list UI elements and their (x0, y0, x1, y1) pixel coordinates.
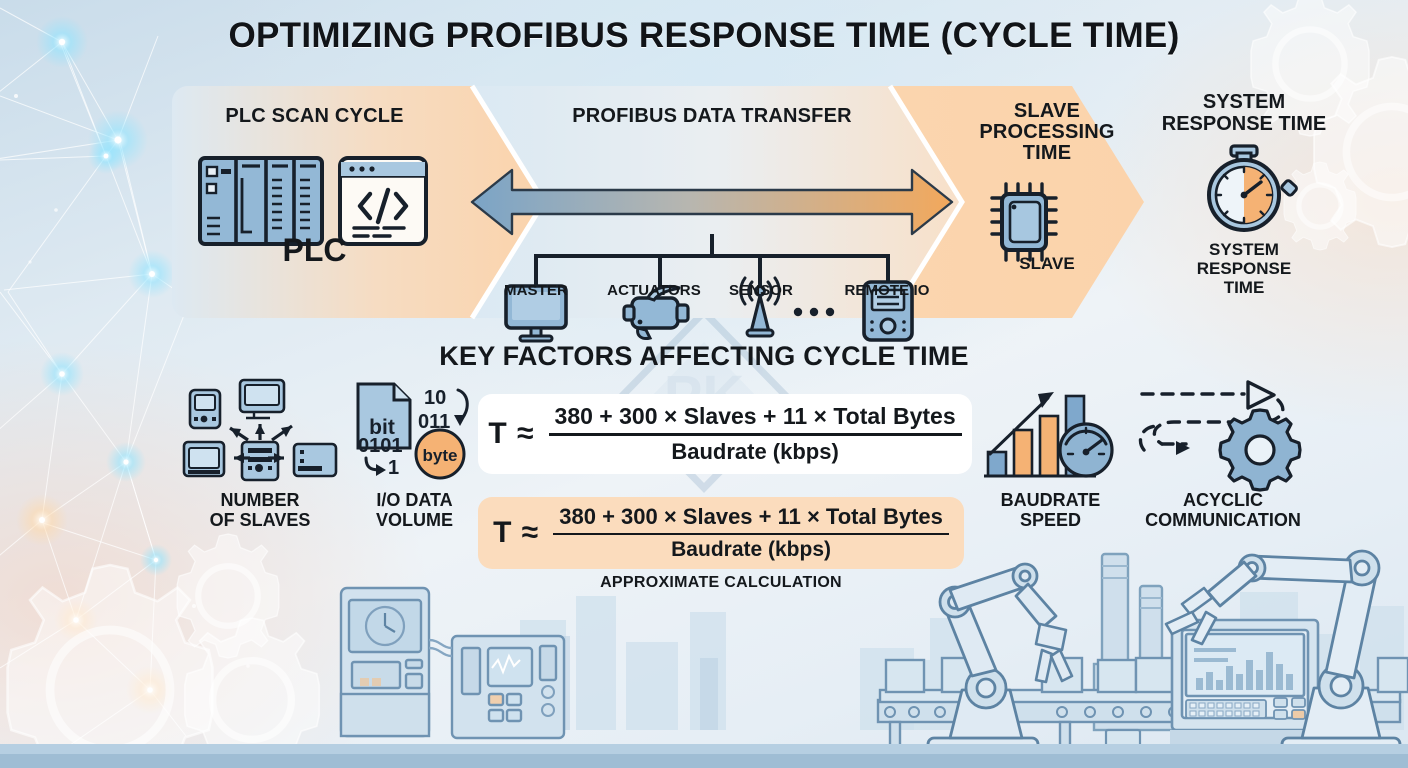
factor-label-number-of-slaves: NUMBER OF SLAVES (180, 490, 340, 530)
bits-low: 0101 (358, 435, 403, 457)
node-label-sensor: SENSOR (706, 282, 816, 299)
formula-primary-denominator: Baudrate (kbps) (671, 436, 838, 465)
node-label-remote-io: REMOTE IO (816, 282, 958, 299)
formula-primary-numerator: 380 + 300 × Slaves + 11 × Total Bytes (549, 403, 962, 433)
formula-secondary-fraction: 380 + 300 × Slaves + 11 × Total Bytes Ba… (553, 504, 949, 563)
network-devices-icon (180, 378, 340, 486)
factor-number-of-slaves: NUMBER OF SLAVES (180, 378, 340, 530)
stage-label-data-transfer: PROFIBUS DATA TRANSFER (452, 106, 972, 127)
factor-baudrate-speed: BAUDRATE SPEED (978, 378, 1123, 530)
formula-caption: APPROXIMATE CALCULATION (478, 574, 964, 592)
formula-secondary-lhs: T ≈ (493, 516, 539, 550)
ellipsis-dots (794, 308, 834, 316)
byte-label: byte (423, 446, 458, 465)
factor-label-baudrate-speed: BAUDRATE SPEED (978, 490, 1123, 530)
bit-byte-icon: bit 10 011 0101 1 byte (352, 378, 477, 486)
system-response-time-block: SYSTEM RESPONSE TIME SYSTEM RESPONSE TIM… (1140, 92, 1348, 297)
factor-label-acyclic-communication: ACYCLIC COMMUNICATION (1128, 490, 1318, 530)
bits-tail: 1 (388, 457, 399, 479)
plc-caption: PLC (192, 232, 437, 269)
stage-label-plc-scan-cycle: PLC SCAN CYCLE (192, 106, 437, 127)
formula-primary: T ≈ 380 + 300 × Slaves + 11 × Total Byte… (478, 394, 972, 474)
bar-chart-gauge-icon (978, 378, 1123, 486)
node-label-actuators: ACTUATORS (590, 282, 718, 299)
factor-label-io-data-volume: I/O DATA VOLUME (352, 490, 477, 530)
factor-acyclic-communication: ACYCLIC COMMUNICATION (1128, 378, 1318, 530)
system-response-caption: SYSTEM RESPONSE TIME (1140, 241, 1348, 297)
system-response-heading: SYSTEM RESPONSE TIME (1140, 92, 1348, 135)
factor-io-data-volume: bit 10 011 0101 1 byte I/O DATA VOLUME (352, 378, 477, 530)
node-label-master: MASTER (472, 282, 600, 299)
stage-label-slave-processing: SLAVE PROCESSING TIME (957, 101, 1137, 165)
key-factors-heading: KEY FACTORS AFFECTING CYCLE TIME (0, 341, 1408, 372)
bits-top: 10 (424, 387, 446, 409)
slave-caption: SLAVE (957, 254, 1137, 274)
process-flow-diagram: PLC SCAN CYCLE PROFIBUS DATA TRANSFER SL… (172, 86, 1242, 318)
formula-primary-lhs: T ≈ (488, 417, 534, 451)
formula-secondary-denominator: Baudrate (kbps) (671, 535, 831, 562)
formula-secondary-numerator: 380 + 300 × Slaves + 11 × Total Bytes (553, 504, 949, 533)
stopwatch-icon (1140, 141, 1348, 237)
dashed-arrows-gear-icon (1128, 378, 1318, 486)
formula-secondary: T ≈ 380 + 300 × Slaves + 11 × Total Byte… (478, 497, 964, 569)
page-title: OPTIMIZING PROFIBUS RESPONSE TIME (CYCLE… (0, 16, 1408, 56)
formula-primary-fraction: 380 + 300 × Slaves + 11 × Total Bytes Ba… (549, 403, 962, 465)
